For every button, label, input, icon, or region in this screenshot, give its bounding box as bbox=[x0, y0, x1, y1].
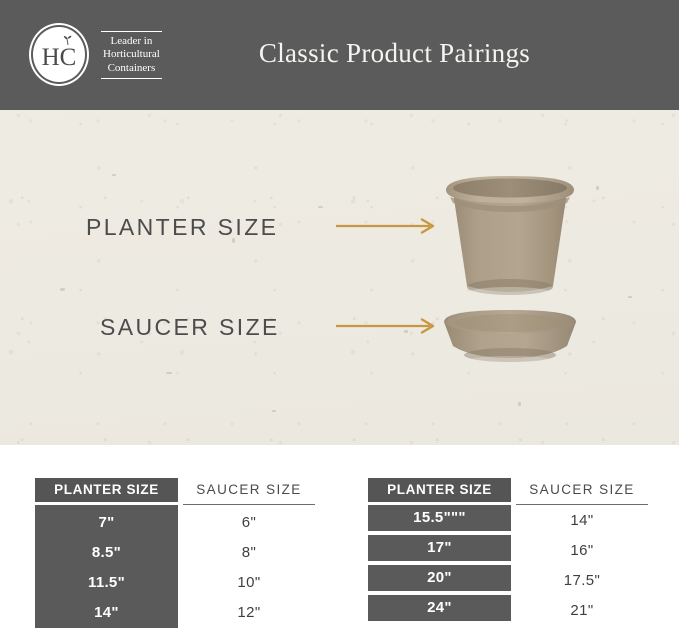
planter-size-column-right: PLANTER SIZE 15.5""" 17" 20" 24" bbox=[368, 478, 511, 636]
table-cell-planter: 15.5""" bbox=[368, 505, 511, 531]
planter-arrow-icon bbox=[336, 218, 440, 234]
table-cell-planter: 7" bbox=[35, 508, 178, 538]
saucer-dish-illustration bbox=[436, 302, 584, 370]
size-chart-tables: PLANTER SIZE 7" 8.5" 11.5" 14" SAUCER SI… bbox=[0, 445, 679, 636]
hero-section: PLANTER SIZE SAUCER SIZE bbox=[0, 110, 679, 445]
planter-values-bars-right: 15.5""" 17" 20" 24" bbox=[368, 505, 511, 621]
table-cell-saucer: 8" bbox=[183, 538, 315, 568]
size-table-right: PLANTER SIZE 15.5""" 17" 20" 24" SAUCER … bbox=[368, 478, 648, 636]
table-cell-planter: 11.5" bbox=[35, 568, 178, 598]
size-table-left: PLANTER SIZE 7" 8.5" 11.5" 14" SAUCER SI… bbox=[35, 478, 315, 636]
column-header-planter-right: PLANTER SIZE bbox=[368, 478, 511, 502]
table-cell-saucer: 17.5" bbox=[516, 568, 648, 594]
page-title: Classic Product Pairings bbox=[0, 38, 679, 69]
table-cell-planter: 14" bbox=[35, 598, 178, 628]
product-pairings-infographic: HC Leader in Horticultural Containers Cl… bbox=[0, 0, 679, 636]
table-cell-planter: 20" bbox=[368, 565, 511, 591]
table-cell-saucer: 16" bbox=[516, 538, 648, 564]
column-header-saucer-left: SAUCER SIZE bbox=[183, 478, 315, 502]
table-cell-saucer: 6" bbox=[183, 508, 315, 538]
table-cell-saucer: 10" bbox=[183, 568, 315, 598]
saucer-size-column-left: SAUCER SIZE 6" 8" 10" 12" bbox=[183, 478, 315, 636]
table-cell-planter: 17" bbox=[368, 535, 511, 561]
table-cell-planter: 24" bbox=[368, 595, 511, 621]
table-cell-saucer: 12" bbox=[183, 598, 315, 628]
column-header-planter-left: PLANTER SIZE bbox=[35, 478, 178, 502]
saucer-size-label: SAUCER SIZE bbox=[100, 314, 280, 341]
header-bar: HC Leader in Horticultural Containers Cl… bbox=[0, 0, 679, 110]
table-cell-saucer: 21" bbox=[516, 598, 648, 624]
saucer-arrow-icon bbox=[336, 318, 440, 334]
planter-values-block-left: 7" 8.5" 11.5" 14" bbox=[35, 505, 178, 628]
table-cell-saucer: 14" bbox=[516, 508, 648, 534]
column-header-saucer-right: SAUCER SIZE bbox=[516, 478, 648, 502]
saucer-size-column-right: SAUCER SIZE 14" 16" 17.5" 21" bbox=[516, 478, 648, 636]
planter-size-label: PLANTER SIZE bbox=[86, 214, 278, 241]
planter-pot-illustration bbox=[436, 170, 584, 302]
table-cell-planter: 8.5" bbox=[35, 538, 178, 568]
planter-size-column-left: PLANTER SIZE 7" 8.5" 11.5" 14" bbox=[35, 478, 178, 636]
